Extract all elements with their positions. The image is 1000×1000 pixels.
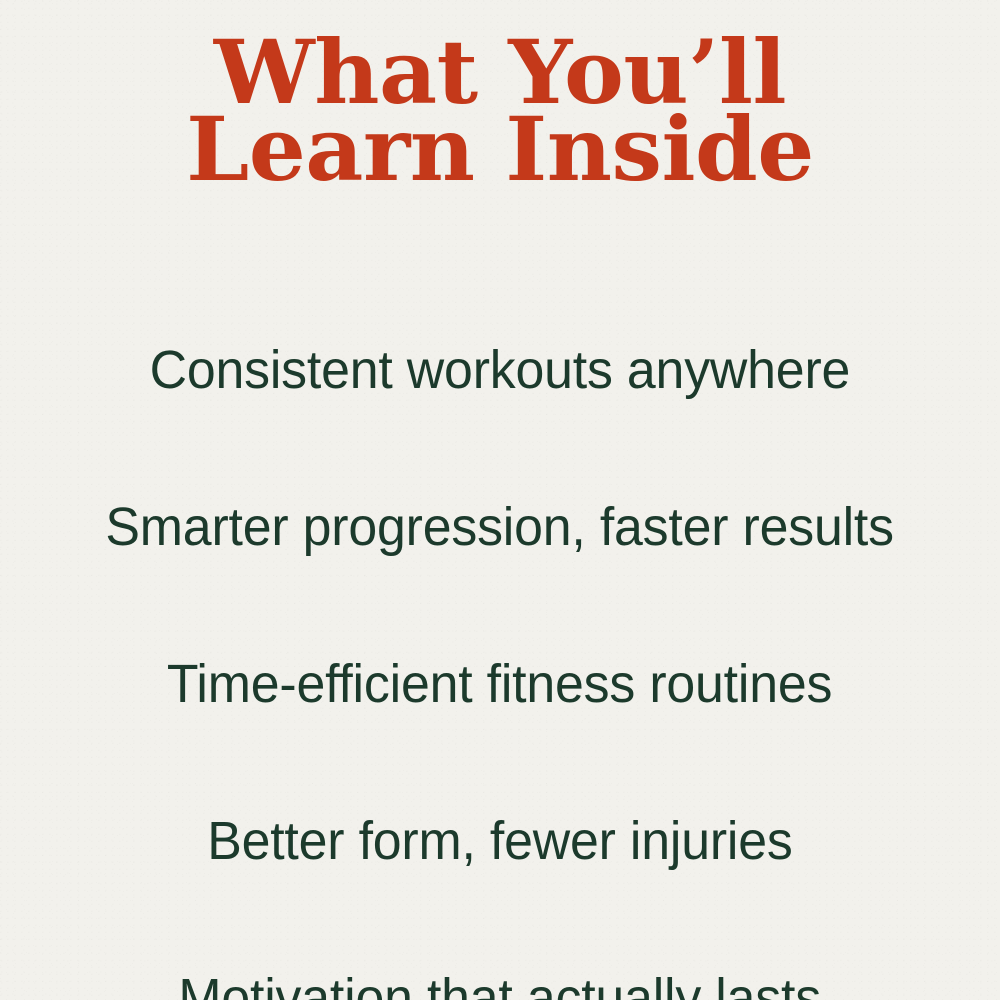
list-item: Motivation that actually lasts xyxy=(0,920,1000,1000)
list-item: Smarter progression, faster results xyxy=(0,449,1000,606)
benefit-label-5: Motivation that actually lasts xyxy=(179,970,822,1000)
benefit-label-3: Time-efficient fitness routines xyxy=(167,656,832,713)
poster-content: What You’ll Learn Inside Consistent work… xyxy=(0,0,1000,1000)
benefit-label-1: Consistent workouts anywhere xyxy=(150,342,851,399)
benefit-label-2: Smarter progression, faster results xyxy=(106,499,894,556)
what-youll-learn-poster: What You’ll Learn Inside Consistent work… xyxy=(0,0,1000,1000)
page-title: What You’ll Learn Inside xyxy=(0,34,1000,187)
page-title-line-2: Learn Inside xyxy=(0,111,1000,188)
list-item: Better form, fewer injuries xyxy=(0,763,1000,920)
benefit-label-4: Better form, fewer injuries xyxy=(207,813,792,870)
list-item: Time-efficient fitness routines xyxy=(0,606,1000,763)
benefit-list: Consistent workouts anywhere Smarter pro… xyxy=(0,246,1000,1000)
list-item: Consistent workouts anywhere xyxy=(0,292,1000,449)
